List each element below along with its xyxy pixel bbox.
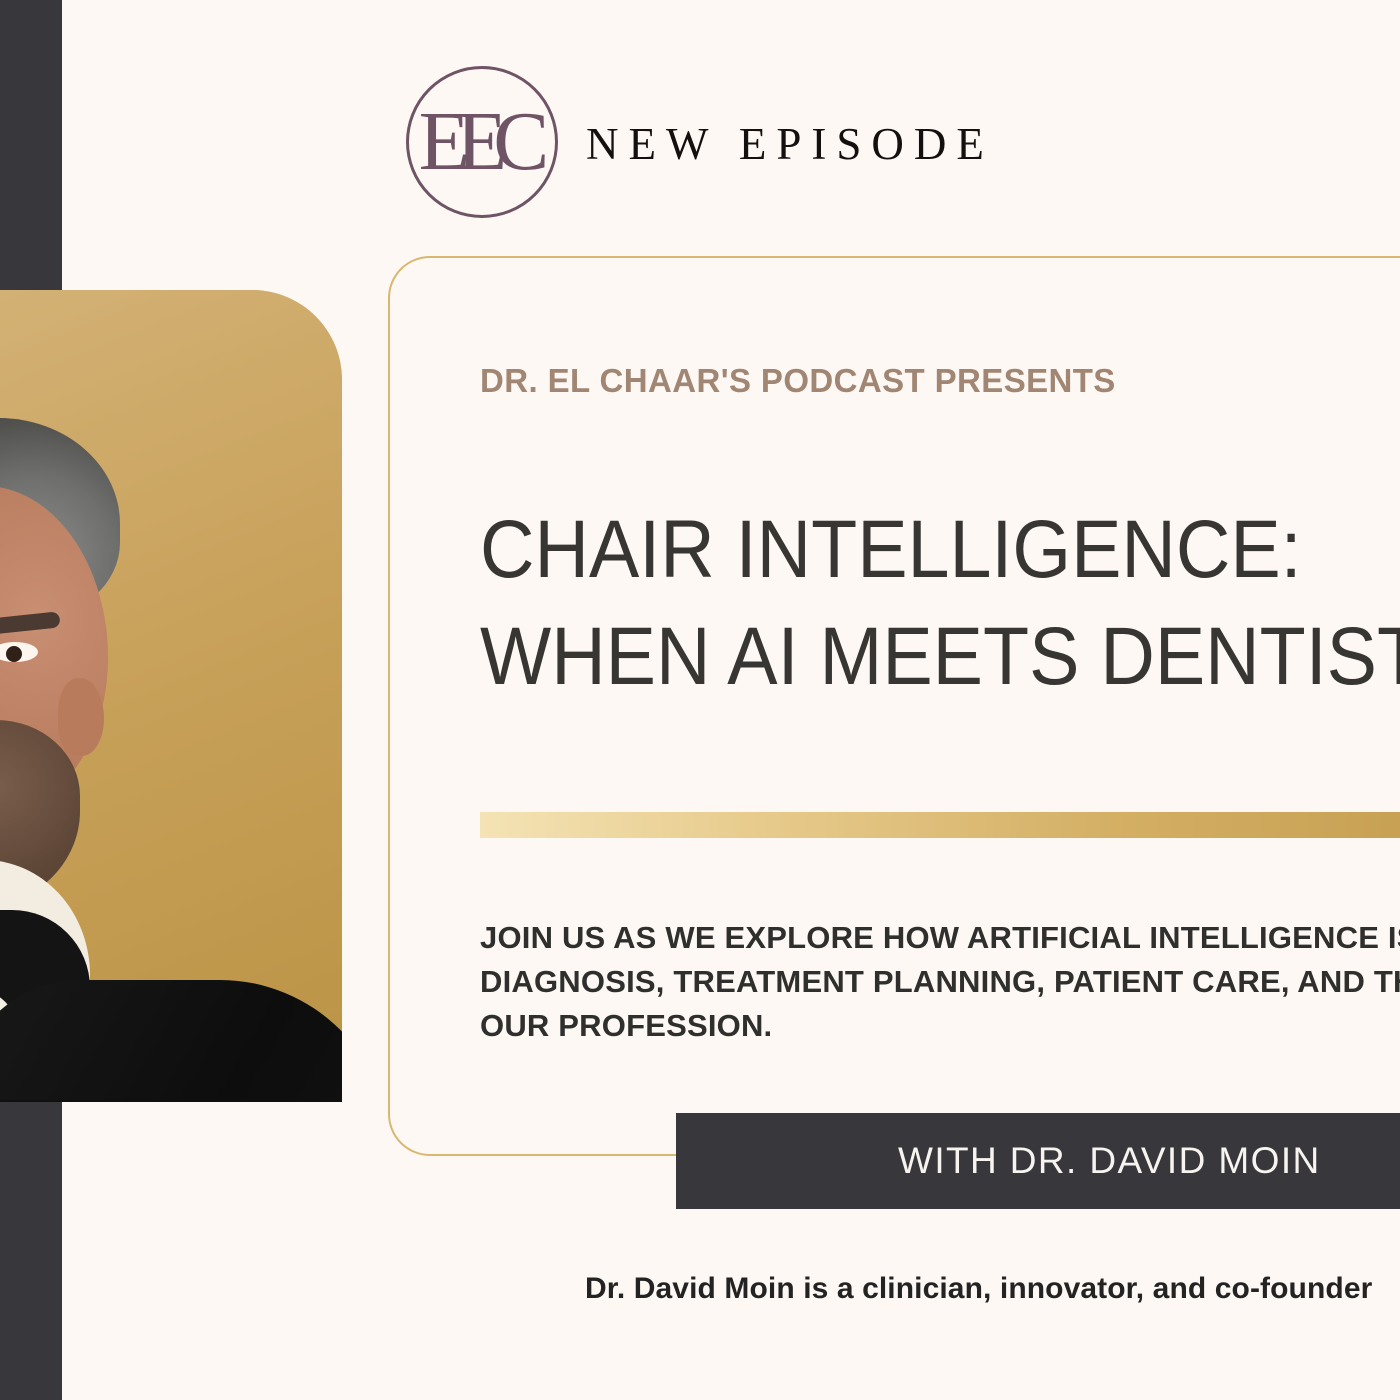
guest-bio: Dr. David Moin is a clinician, innovator… (585, 1272, 1372, 1306)
podcast-kicker: DR. EL CHAAR'S PODCAST PRESENTS (480, 362, 1116, 400)
episode-title: CHAIR INTELLIGENCE: WHEN AI MEETS DENTIS… (480, 497, 1400, 710)
guest-name-band: WITH DR. DAVID MOIN (676, 1113, 1400, 1209)
portrait-ear (58, 678, 104, 756)
portrait-suit (0, 980, 342, 1102)
podcast-episode-poster: EEC NEW EPISODE DR. EL CHAAR'S PODCAST P… (0, 0, 1400, 1400)
episode-description-line-1: JOIN US AS WE EXPLORE HOW ARTIFICIAL INT… (480, 916, 1400, 960)
episode-title-line-2: WHEN AI MEETS DENTISTRY (480, 604, 1400, 711)
left-rail-top (0, 0, 62, 292)
guest-name-label: WITH DR. DAVID MOIN (898, 1140, 1321, 1182)
episode-description-line-2: DIAGNOSIS, TREATMENT PLANNING, PATIENT C… (480, 960, 1400, 1004)
left-rail-bottom (0, 1102, 62, 1400)
portrait-pupil (6, 646, 22, 662)
episode-description-line-3: OUR PROFESSION. (480, 1004, 1400, 1048)
brand-header: EEC NEW EPISODE (406, 66, 994, 218)
episode-description: JOIN US AS WE EXPLORE HOW ARTIFICIAL INT… (480, 916, 1400, 1048)
logo-monogram-text: EEC (409, 100, 555, 184)
guest-portrait (0, 290, 342, 1102)
portrait-suit-base (0, 1100, 342, 1102)
new-episode-badge: NEW EPISODE (586, 114, 994, 170)
gold-divider (480, 812, 1400, 838)
eec-circle-monogram-logo[interactable]: EEC (406, 66, 558, 218)
episode-title-line-1: CHAIR INTELLIGENCE: (480, 497, 1400, 604)
